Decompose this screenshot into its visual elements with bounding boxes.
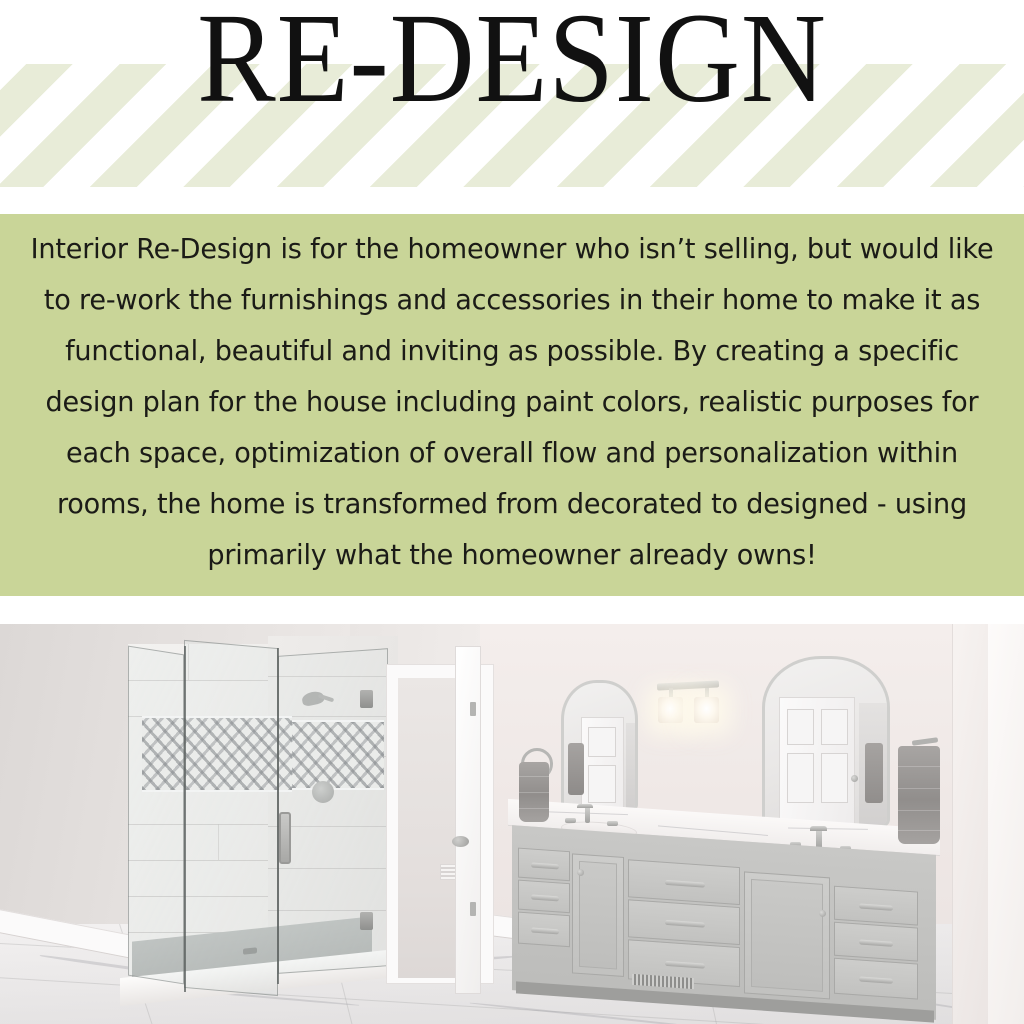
wall-column-right <box>952 624 988 1024</box>
shower-glass-door <box>184 640 278 996</box>
header-band: RE-DESIGN <box>0 0 1024 210</box>
mirror-reflection-doorknob <box>851 775 858 782</box>
mirror-reflection-door-panel-right-upper-right <box>821 709 848 745</box>
drawer-pull <box>665 920 705 928</box>
drawer-left-1[interactable] <box>518 848 570 882</box>
mirror-reflection-towel <box>568 743 584 795</box>
page-title: RE-DESIGN <box>41 0 983 122</box>
shower-hinge-top <box>360 690 373 708</box>
shower-hinge-bottom <box>360 912 373 930</box>
description-text: Interior Re-Design is for the homeowner … <box>25 224 998 581</box>
cabinet-door-right[interactable] <box>744 871 830 999</box>
vanity-light-shade-left <box>658 697 683 723</box>
vanity-light-shade-right <box>694 697 719 723</box>
drawer-pull <box>859 976 893 983</box>
faucet-right-neck <box>810 826 827 831</box>
description-panel: Interior Re-Design is for the homeowner … <box>0 214 1024 596</box>
drawer-pull <box>859 903 893 910</box>
shower-door-handle[interactable] <box>279 812 291 864</box>
door-hinge-bottom <box>470 902 476 916</box>
faucet-left-handle-cold[interactable] <box>607 821 618 826</box>
mirror-reflection-wall <box>626 723 638 811</box>
towel-right <box>898 746 940 844</box>
shower-glass-fixed-panel <box>128 646 184 985</box>
wall-edge-far-right <box>988 624 1024 1024</box>
cabinet-door-left[interactable] <box>572 853 624 977</box>
faucet-left-spout[interactable] <box>585 806 590 823</box>
drawer-right-2[interactable] <box>834 922 918 962</box>
mirror-reflection-door-panel-lower <box>588 765 616 803</box>
drawer-right-1[interactable] <box>834 886 918 926</box>
drawer-left-3[interactable] <box>518 912 570 948</box>
mirror-reflection-door-panel-upper <box>588 727 616 757</box>
drawer-mid-2[interactable] <box>628 899 740 945</box>
drawer-pull <box>531 895 559 902</box>
drawer-pull <box>531 863 559 870</box>
towel-left <box>519 762 549 822</box>
mirror-right <box>762 656 890 828</box>
drawer-right-3[interactable] <box>834 958 918 1000</box>
door-knob[interactable] <box>452 836 469 847</box>
drawer-left-2[interactable] <box>518 880 570 914</box>
open-door[interactable] <box>455 646 481 994</box>
cabinet-door-panel <box>751 879 823 992</box>
drawer-pull <box>665 961 705 969</box>
mirror-reflection-towel-right <box>865 743 883 803</box>
poster-canvas: RE-DESIGN Interior Re-Design is for the … <box>0 0 1024 1024</box>
mirror-reflection-door-panel-right-lower-right <box>821 753 848 803</box>
shower-glass-mullion <box>184 646 186 992</box>
drawer-pull <box>859 939 893 946</box>
mirror-left <box>561 680 638 811</box>
bathroom-photo <box>0 624 1024 1024</box>
drawer-pull <box>665 880 705 888</box>
mirror-reflection-door-panel-right-upper-left <box>787 709 814 745</box>
cabinet-knob[interactable] <box>577 869 584 876</box>
faucet-left-neck <box>577 804 593 808</box>
cabinet-knob[interactable] <box>819 910 826 917</box>
door-hinge-top <box>470 702 476 716</box>
cabinet-door-panel <box>579 861 617 970</box>
drawer-mid-1[interactable] <box>628 859 740 905</box>
drawer-pull <box>531 928 559 935</box>
faucet-left-handle-hot[interactable] <box>565 818 576 823</box>
mirror-reflection-door-panel-right-lower-left <box>787 753 814 803</box>
